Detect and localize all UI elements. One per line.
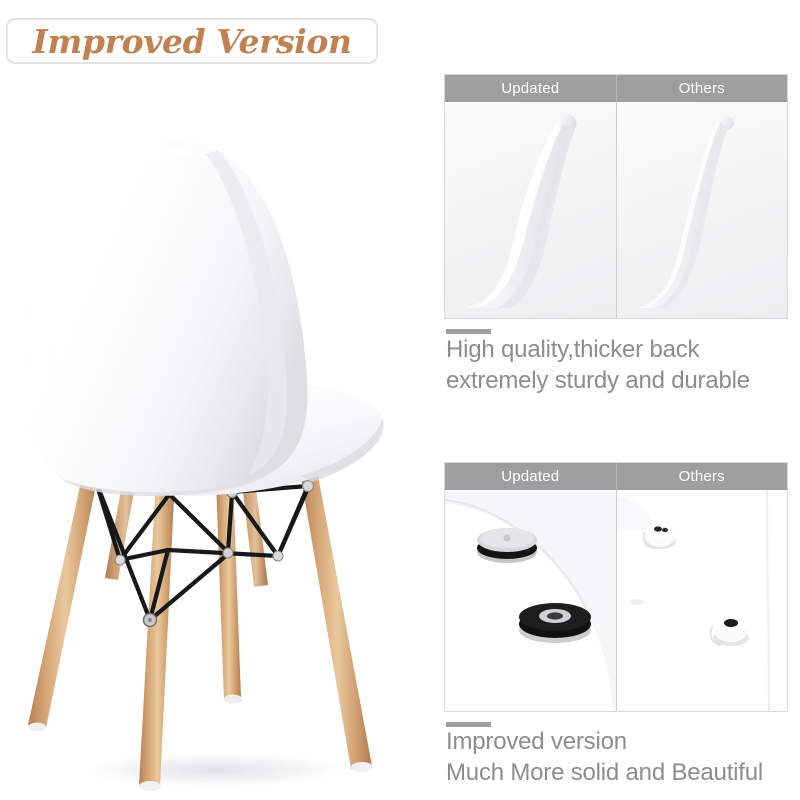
panel-header-others-2: Others [617, 463, 788, 490]
comparison-panel-backrest: Updated Others [444, 74, 788, 319]
product-image-chair [0, 80, 430, 800]
floor-shadow [65, 750, 365, 790]
caption-footpads-line-2: Much More solid and Beautiful [446, 757, 798, 788]
chair-illustration [0, 80, 430, 800]
chair-shell [22, 138, 384, 496]
caption-backrest-line-2: extremely sturdy and durable [446, 365, 798, 396]
chair-legs [28, 448, 373, 791]
thick-backrest-profile-icon [445, 102, 617, 318]
panel-header-updated-2: Updated [445, 463, 617, 490]
panel-body-backrest [445, 102, 787, 318]
caption-footpads: Improved version Much More solid and Bea… [446, 726, 798, 788]
panel-header-others: Others [617, 75, 788, 102]
improved-version-banner: Improved Version [6, 18, 378, 64]
caption-backrest: High quality,thicker back extremely stur… [446, 334, 798, 396]
cell-updated-backrest [445, 102, 617, 318]
caption-backrest-line-1: High quality,thicker back [446, 334, 798, 365]
cell-others-footpads [617, 490, 788, 711]
thin-backrest-profile-icon [617, 102, 788, 318]
small-foot-nubs-icon [617, 490, 788, 711]
comparison-panel-footpads: Updated Others [444, 462, 788, 712]
leg-front-left [28, 466, 100, 728]
large-foot-pads-icon [445, 490, 617, 711]
panel-header-footpads: Updated Others [445, 463, 787, 490]
caption-footpads-line-1: Improved version [446, 726, 798, 757]
cell-others-backrest [617, 102, 788, 318]
cell-updated-footpads [445, 490, 617, 711]
panel-header-backrest: Updated Others [445, 75, 787, 102]
panel-body-footpads [445, 490, 787, 711]
banner-title: Improved Version [8, 20, 376, 62]
leg-right-outer [300, 470, 372, 769]
panel-header-updated: Updated [445, 75, 617, 102]
leg-middle-right [216, 480, 241, 700]
